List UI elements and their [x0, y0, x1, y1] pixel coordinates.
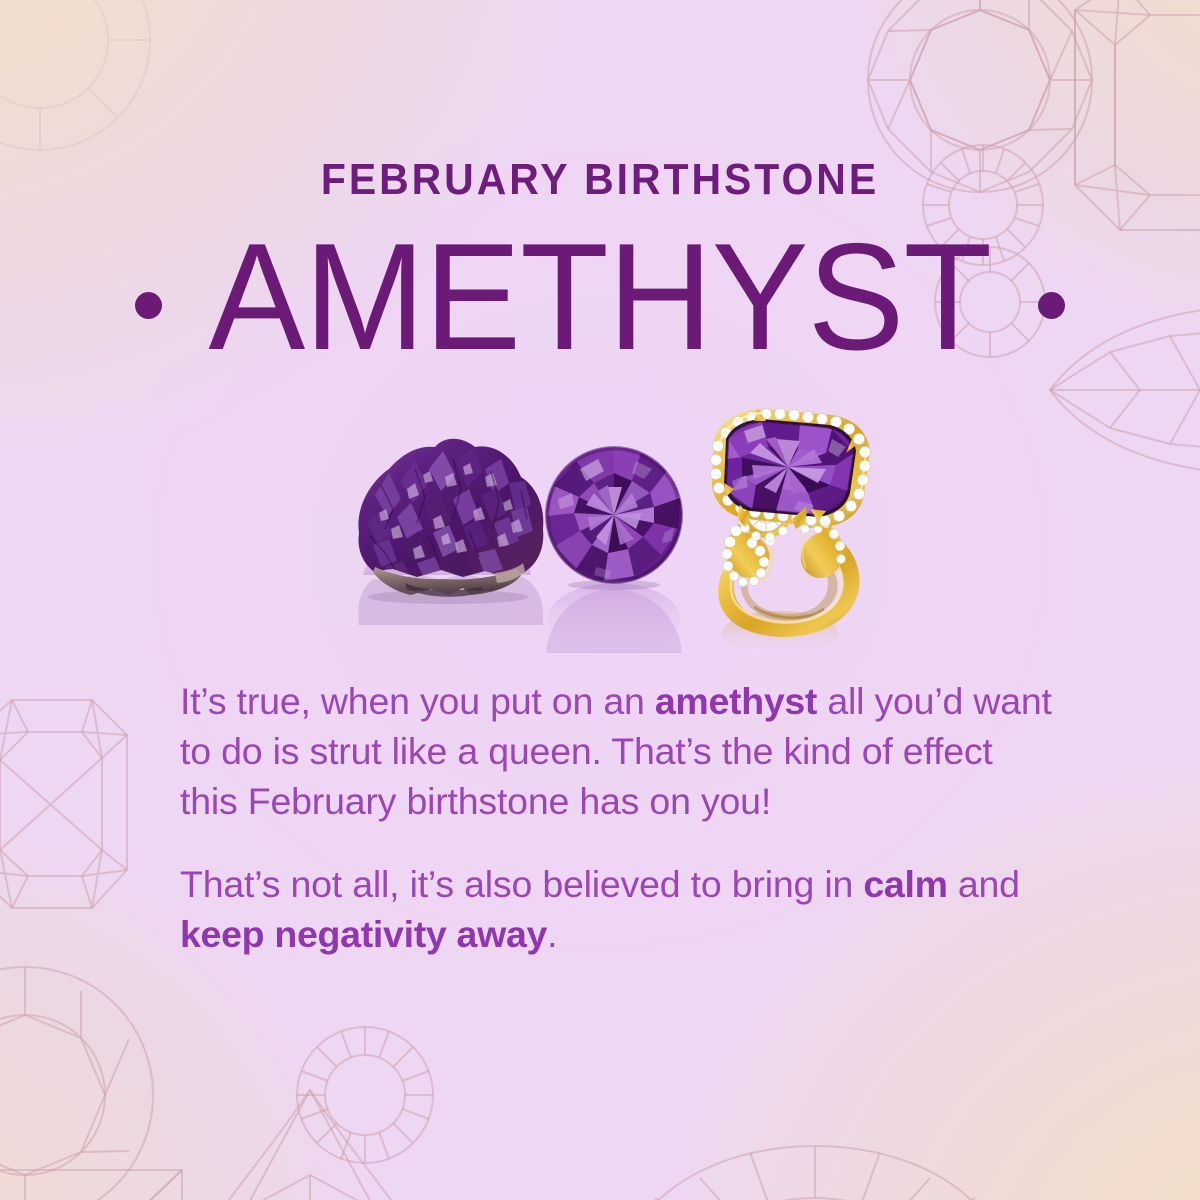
paragraph-2: That’s not all, it’s also believed to br…: [180, 859, 1060, 959]
title-row: AMETHYST: [0, 228, 1200, 368]
bullet-dot-right-icon: [1038, 292, 1065, 319]
amethyst-geode-cluster: [345, 425, 560, 655]
gemstone-row: [0, 395, 1200, 665]
round-brilliant-amethyst: [536, 443, 696, 653]
bullet-dot-left-icon: [135, 292, 162, 319]
paragraph-1: It’s true, when you put on an amethyst a…: [180, 676, 1060, 826]
gold-amethyst-halo-ring: [680, 395, 895, 660]
body-copy: It’s true, when you put on an amethyst a…: [180, 676, 1060, 959]
kicker-heading: FEBRUARY BIRTHSTONE: [42, 158, 1158, 202]
poster-canvas: FEBRUARY BIRTHSTONE AMETHYST: [0, 0, 1200, 1200]
page-title: AMETHYST: [209, 228, 992, 368]
